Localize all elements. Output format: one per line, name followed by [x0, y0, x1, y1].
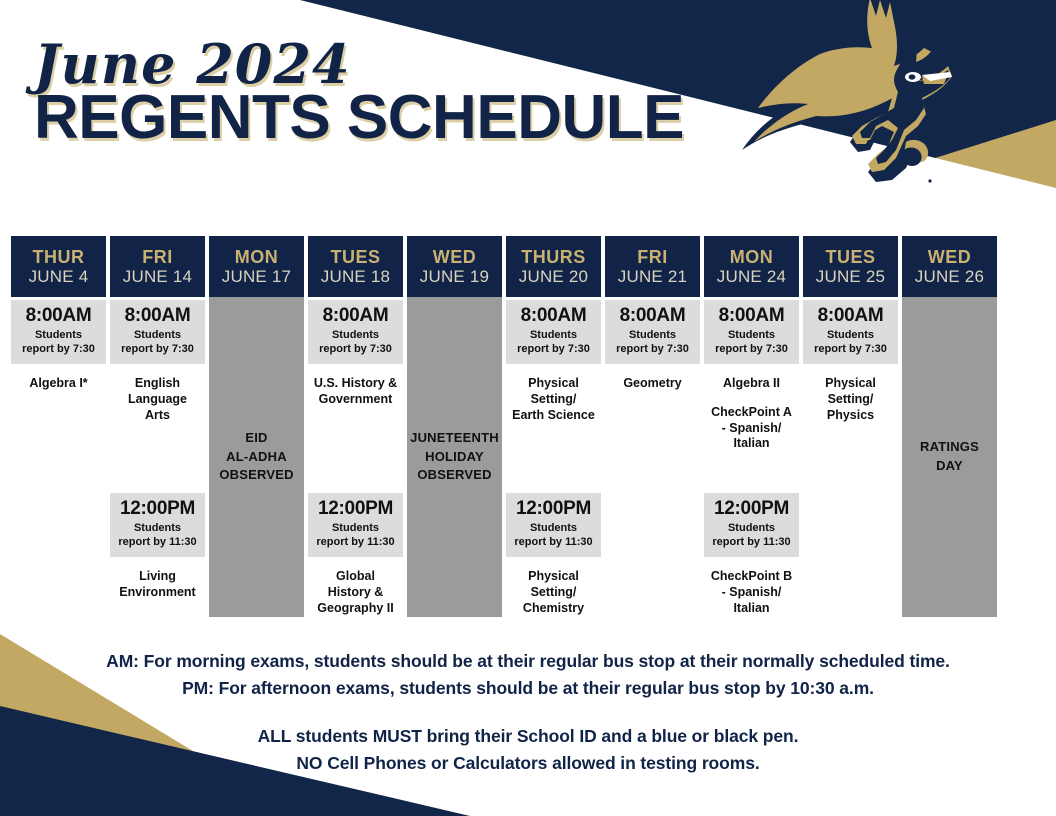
column-header: FRIJUNE 14 — [110, 236, 205, 297]
column-header: THURSJUNE 20 — [506, 236, 601, 297]
report-time-block: 12:00PMStudentsreport by 11:30 — [308, 493, 403, 557]
exam-slot-am: 8:00AMStudentsreport by 7:30Geometry — [605, 300, 700, 392]
exam-slot-pm: 12:00PMStudentsreport by 11:30LivingEnvi… — [110, 493, 205, 601]
exam-slot-am: 8:00AMStudentsreport by 7:30Algebra IICh… — [704, 300, 799, 452]
column-day: MON — [235, 248, 279, 267]
exam-name: Algebra II — [704, 364, 799, 392]
column-date: JUNE 18 — [321, 267, 390, 287]
column-date: JUNE 25 — [816, 267, 885, 287]
column-body: 8:00AMStudentsreport by 7:30PhysicalSett… — [506, 297, 601, 617]
exam-name: PhysicalSetting/Earth Science — [506, 364, 601, 423]
eagle-logo — [700, 0, 1000, 197]
report-by-text: Studentsreport by 11:30 — [310, 522, 401, 550]
column-header: MONJUNE 24 — [704, 236, 799, 297]
exam-slot-am: 8:00AMStudentsreport by 7:30Algebra I* — [11, 300, 106, 392]
column-date: JUNE 14 — [123, 267, 192, 287]
column-body: 8:00AMStudentsreport by 7:30PhysicalSett… — [803, 297, 898, 617]
schedule-column: FRIJUNE 148:00AMStudentsreport by 7:30En… — [110, 236, 205, 617]
page-title: REGENTS SCHEDULE — [34, 87, 684, 149]
note-am: AM: For morning exams, students should b… — [0, 648, 1056, 675]
column-date: JUNE 21 — [618, 267, 687, 287]
column-body: JUNETEENTHHOLIDAYOBSERVED — [407, 297, 502, 617]
poster-header: June 2024 REGENTS SCHEDULE — [34, 36, 684, 149]
column-header: TUESJUNE 18 — [308, 236, 403, 297]
column-day: FRI — [637, 248, 668, 267]
column-day: THUR — [33, 248, 85, 267]
exam-name-secondary: CheckPoint A- Spanish/Italian — [704, 392, 799, 452]
exam-start-time: 12:00PM — [508, 499, 599, 520]
exam-name: EnglishLanguageArts — [110, 364, 205, 423]
exam-name: PhysicalSetting/Physics — [803, 364, 898, 423]
exam-start-time: 8:00AM — [805, 306, 896, 327]
notes-section: AM: For morning exams, students should b… — [0, 648, 1056, 778]
column-body: 8:00AMStudentsreport by 7:30Algebra IICh… — [704, 297, 799, 617]
column-body: 8:00AMStudentsreport by 7:30U.S. History… — [308, 297, 403, 617]
schedule-column: FRIJUNE 218:00AMStudentsreport by 7:30Ge… — [605, 236, 700, 617]
report-by-text: Studentsreport by 7:30 — [112, 329, 203, 357]
column-body: 8:00AMStudentsreport by 7:30Algebra I* — [11, 297, 106, 617]
report-by-text: Studentsreport by 7:30 — [508, 329, 599, 357]
report-by-text: Studentsreport by 11:30 — [706, 522, 797, 550]
column-date: JUNE 19 — [420, 267, 489, 287]
column-header: WEDJUNE 26 — [902, 236, 997, 297]
exam-name: LivingEnvironment — [110, 557, 205, 600]
column-date: JUNE 26 — [915, 267, 984, 287]
report-time-block: 12:00PMStudentsreport by 11:30 — [110, 493, 205, 557]
report-time-block: 8:00AMStudentsreport by 7:30 — [308, 300, 403, 364]
report-time-block: 8:00AMStudentsreport by 7:30 — [605, 300, 700, 364]
exam-name: U.S. History &Government — [308, 364, 403, 407]
report-time-block: 12:00PMStudentsreport by 11:30 — [506, 493, 601, 557]
report-time-block: 8:00AMStudentsreport by 7:30 — [803, 300, 898, 364]
exam-name: GlobalHistory &Geography II — [308, 557, 403, 616]
exam-start-time: 8:00AM — [112, 306, 203, 327]
exam-start-time: 8:00AM — [310, 306, 401, 327]
exam-start-time: 12:00PM — [310, 499, 401, 520]
exam-slot-pm: 12:00PMStudentsreport by 11:30PhysicalSe… — [506, 493, 601, 616]
column-day: WED — [433, 248, 477, 267]
column-day: TUES — [825, 248, 875, 267]
report-time-block: 8:00AMStudentsreport by 7:30 — [11, 300, 106, 364]
column-header: MONJUNE 17 — [209, 236, 304, 297]
report-by-text: Studentsreport by 7:30 — [706, 329, 797, 357]
exam-start-time: 8:00AM — [13, 306, 104, 327]
exam-slot-pm: 12:00PMStudentsreport by 11:30GlobalHist… — [308, 493, 403, 616]
column-day: FRI — [142, 248, 173, 267]
holiday-label: RATINGSDAY — [920, 438, 979, 476]
report-by-text: Studentsreport by 7:30 — [607, 329, 698, 357]
column-date: JUNE 20 — [519, 267, 588, 287]
column-body: 8:00AMStudentsreport by 7:30EnglishLangu… — [110, 297, 205, 617]
report-by-text: Studentsreport by 11:30 — [508, 522, 599, 550]
schedule-column: WEDJUNE 26RATINGSDAY — [902, 236, 997, 617]
report-by-text: Studentsreport by 7:30 — [13, 329, 104, 357]
exam-name: Geometry — [605, 364, 700, 392]
schedule-column: MONJUNE 17EIDAL-ADHAOBSERVED — [209, 236, 304, 617]
exam-start-time: 8:00AM — [607, 306, 698, 327]
column-body: RATINGSDAY — [902, 297, 997, 617]
schedule-column: THURSJUNE 208:00AMStudentsreport by 7:30… — [506, 236, 601, 617]
exam-name: Algebra I* — [11, 364, 106, 392]
column-day: MON — [730, 248, 774, 267]
report-by-text: Studentsreport by 11:30 — [112, 522, 203, 550]
column-day: TUES — [330, 248, 380, 267]
note-pm: PM: For afternoon exams, students should… — [0, 675, 1056, 702]
holiday-label: JUNETEENTHHOLIDAYOBSERVED — [410, 429, 499, 486]
column-header: TUESJUNE 25 — [803, 236, 898, 297]
regents-schedule-table: THURJUNE 48:00AMStudentsreport by 7:30Al… — [11, 236, 1045, 617]
schedule-column: MONJUNE 248:00AMStudentsreport by 7:30Al… — [704, 236, 799, 617]
report-time-block: 12:00PMStudentsreport by 11:30 — [704, 493, 799, 557]
report-by-text: Studentsreport by 7:30 — [805, 329, 896, 357]
exam-slot-pm: 12:00PMStudentsreport by 11:30CheckPoint… — [704, 493, 799, 616]
column-body: 8:00AMStudentsreport by 7:30Geometry — [605, 297, 700, 617]
exam-slot-am: 8:00AMStudentsreport by 7:30PhysicalSett… — [803, 300, 898, 423]
report-time-block: 8:00AMStudentsreport by 7:30 — [506, 300, 601, 364]
schedule-column: TUESJUNE 258:00AMStudentsreport by 7:30P… — [803, 236, 898, 617]
regents-schedule-poster: June 2024 REGENTS SCHEDULE THURJUNE 48:0… — [0, 0, 1056, 816]
exam-start-time: 12:00PM — [706, 499, 797, 520]
exam-slot-am: 8:00AMStudentsreport by 7:30PhysicalSett… — [506, 300, 601, 423]
column-date: JUNE 17 — [222, 267, 291, 287]
column-date: JUNE 24 — [717, 267, 786, 287]
note-school-id: ALL students MUST bring their School ID … — [0, 723, 1056, 750]
schedule-column: TUESJUNE 188:00AMStudentsreport by 7:30U… — [308, 236, 403, 617]
schedule-column: WEDJUNE 19JUNETEENTHHOLIDAYOBSERVED — [407, 236, 502, 617]
column-header: FRIJUNE 21 — [605, 236, 700, 297]
exam-slot-am: 8:00AMStudentsreport by 7:30U.S. History… — [308, 300, 403, 408]
schedule-column: THURJUNE 48:00AMStudentsreport by 7:30Al… — [11, 236, 106, 617]
exam-slot-am: 8:00AMStudentsreport by 7:30EnglishLangu… — [110, 300, 205, 423]
column-header: THURJUNE 4 — [11, 236, 106, 297]
exam-start-time: 8:00AM — [706, 306, 797, 327]
note-no-phones: NO Cell Phones or Calculators allowed in… — [0, 750, 1056, 777]
holiday-label: EIDAL-ADHAOBSERVED — [219, 429, 293, 486]
exam-name: CheckPoint B- Spanish/Italian — [704, 557, 799, 616]
report-by-text: Studentsreport by 7:30 — [310, 329, 401, 357]
column-day: WED — [928, 248, 972, 267]
exam-start-time: 8:00AM — [508, 306, 599, 327]
column-header: WEDJUNE 19 — [407, 236, 502, 297]
report-time-block: 8:00AMStudentsreport by 7:30 — [704, 300, 799, 364]
exam-start-time: 12:00PM — [112, 499, 203, 520]
column-date: JUNE 4 — [29, 267, 89, 287]
column-body: EIDAL-ADHAOBSERVED — [209, 297, 304, 617]
exam-name: PhysicalSetting/Chemistry — [506, 557, 601, 616]
column-day: THURS — [521, 248, 586, 267]
report-time-block: 8:00AMStudentsreport by 7:30 — [110, 300, 205, 364]
